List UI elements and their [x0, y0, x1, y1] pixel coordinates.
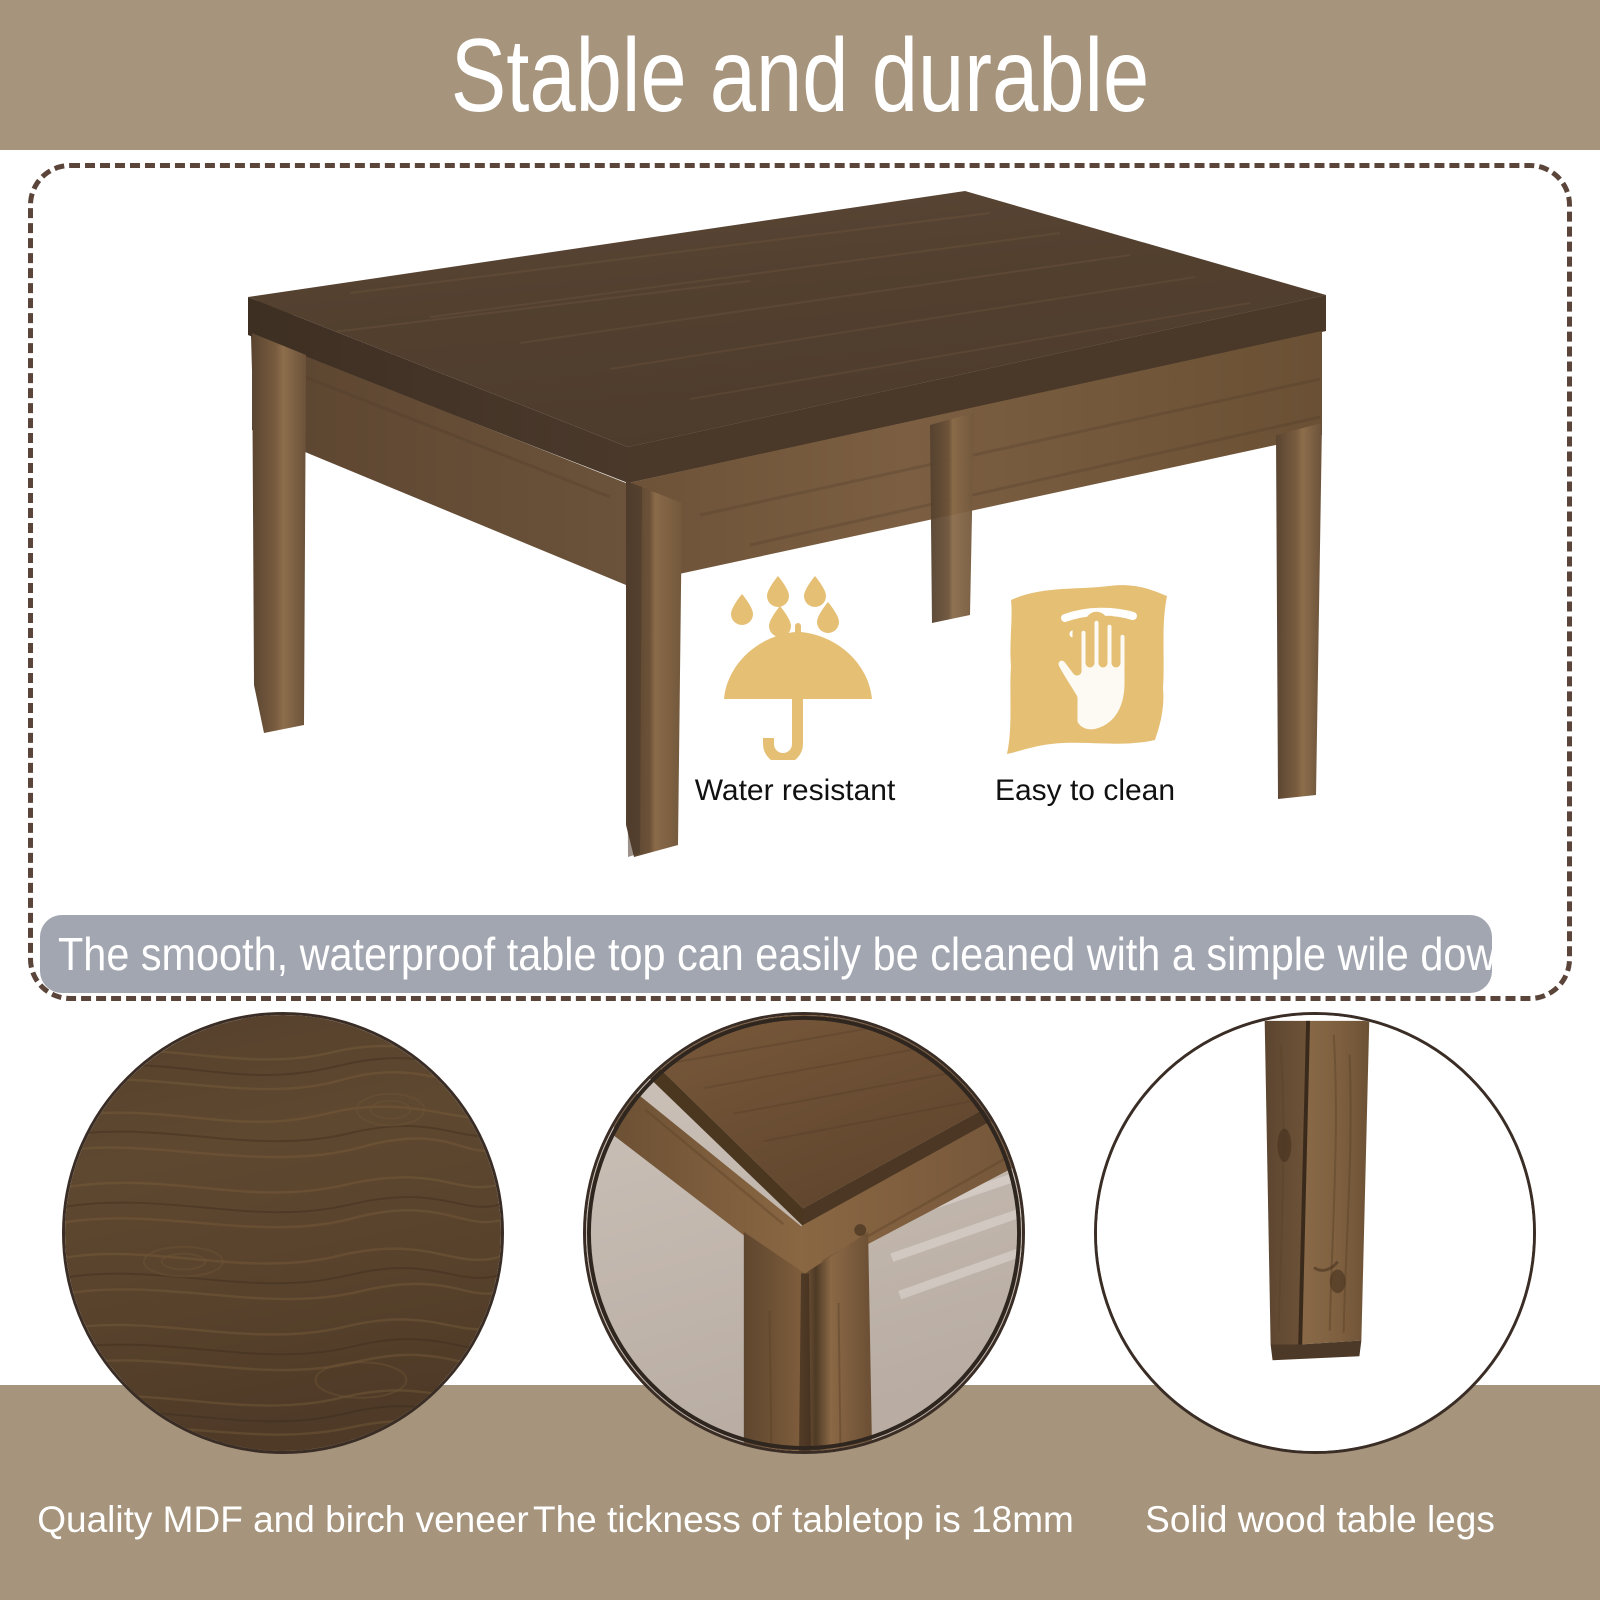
hand-wiping-cloth-icon-svg [993, 578, 1178, 760]
feature-label-water-resistant: Water resistant [670, 774, 920, 808]
header-band: Stable and durable [0, 0, 1600, 150]
info-banner: The smooth, waterproof table top can eas… [40, 915, 1492, 993]
detail-caption-table-leg: Solid wood table legs [1060, 1496, 1580, 1544]
feature-icon-group: Water resistant Easy to clean [660, 560, 1240, 850]
umbrella-rain-icon [670, 560, 920, 760]
umbrella-rain-icon-svg [700, 560, 890, 760]
detail-caption-tabletop-grain: Quality MDF and birch veneer [23, 1496, 543, 1544]
page-title: Stable and durable [160, 6, 1440, 146]
feature-easy-to-clean: Easy to clean [960, 578, 1210, 808]
detail-circle-corner-joint [583, 1012, 1025, 1454]
table-leg-right-front [1276, 423, 1322, 799]
info-banner-text: The smooth, waterproof table top can eas… [58, 930, 1519, 978]
table-leg-front-center-shade [626, 481, 642, 857]
table-leg-left-front [252, 333, 306, 733]
table-corner-joint-closeup [586, 1015, 1022, 1451]
tapered-table-leg-closeup [1097, 1015, 1533, 1451]
detail-circle-table-leg [1094, 1012, 1536, 1454]
feature-water-resistant: Water resistant [670, 560, 920, 808]
detail-caption-corner-joint: The tickness of tabletop is 18mm [533, 1496, 1053, 1544]
wood-grain-tabletop-closeup [65, 1015, 501, 1451]
feature-label-easy-to-clean: Easy to clean [960, 774, 1210, 808]
detail-circle-tabletop-grain [62, 1012, 504, 1454]
product-infographic: Stable and durable [0, 0, 1600, 1600]
hand-wiping-cloth-icon [960, 578, 1210, 760]
